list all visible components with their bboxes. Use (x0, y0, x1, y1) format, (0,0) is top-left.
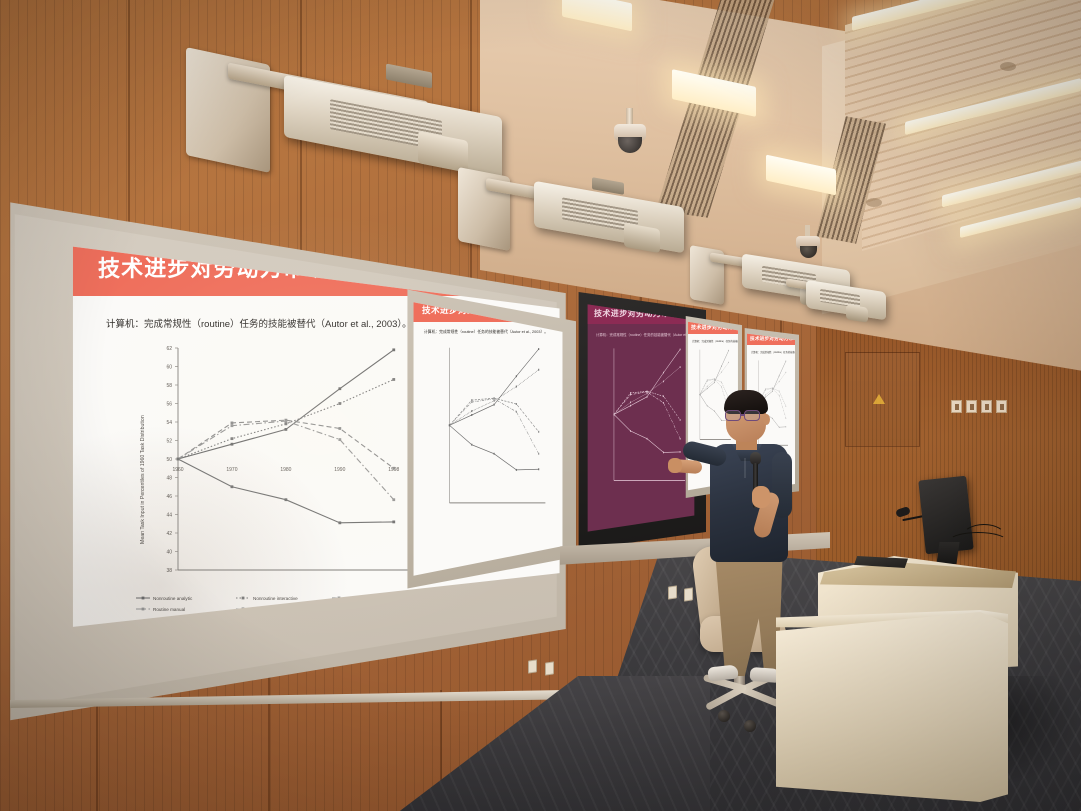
slide-subtitle: 计算机：完成常规性（routine）任务的技能被替代（Autor et al.,… (106, 316, 412, 330)
presenter-right-hand (752, 486, 770, 508)
task-input-chart-mini (428, 338, 552, 528)
chart-marker (663, 452, 664, 454)
task-input-chart: Mean Task Input in Percentiles of 1960 T… (126, 334, 426, 606)
chart-line-routine-cognitive (614, 391, 680, 420)
chart-marker (494, 453, 495, 455)
dome-security-camera (612, 108, 648, 156)
chart-marker (647, 393, 648, 395)
light-switch[interactable] (996, 400, 1007, 413)
chart-ylabel: Mean Task Input in Percentiles of 1960 T… (140, 415, 146, 544)
chart-series (449, 348, 539, 471)
chart-marker (663, 372, 664, 374)
chart-marker (680, 366, 681, 368)
chart-marker (471, 410, 472, 412)
chair-caster (744, 720, 756, 732)
chart-marker (338, 438, 341, 441)
chart-marker (231, 485, 234, 488)
chart-legend-label: Nonroutine analytic (153, 596, 193, 601)
svg-text:1960: 1960 (172, 467, 183, 473)
presenter-shoe (707, 664, 738, 681)
chart-marker (494, 400, 495, 402)
lectern-body[interactable] (776, 612, 1008, 802)
chart-line-nonroutine-analytic (614, 349, 680, 414)
chart-y-ticks: 38404244464850525456586062 (166, 346, 178, 574)
chart-marker (647, 396, 648, 398)
wall-outlet (545, 661, 554, 675)
chart-line-nonroutine-manual (449, 425, 538, 470)
chart-marker (630, 392, 631, 394)
svg-text:58: 58 (166, 383, 172, 389)
presenter-placket (744, 458, 746, 478)
chart-marker (516, 375, 517, 377)
svg-text:1990: 1990 (334, 467, 345, 473)
chart-marker (647, 438, 648, 440)
svg-text:1970: 1970 (226, 467, 237, 473)
chart-marker (663, 395, 664, 397)
chart-marker (392, 521, 395, 524)
chart-marker (630, 405, 631, 407)
cable (948, 532, 1008, 552)
chart-marker (284, 422, 287, 425)
ceiling-speaker (1000, 62, 1016, 71)
light-switch[interactable] (981, 400, 992, 413)
chart-line-nonroutine-analytic (178, 350, 394, 459)
chart-series (614, 349, 681, 454)
projection-screen-2: 技术进步对劳动力市场的冲击 计算机：完成常规性（routine）任务的技能被替代… (412, 298, 564, 580)
light-switch[interactable] (966, 400, 977, 413)
chart-marker (538, 468, 539, 470)
svg-text:54: 54 (166, 420, 172, 426)
chart-marker (538, 453, 539, 455)
glasses-icon (725, 410, 767, 421)
chart-marker (231, 422, 234, 425)
chart-marker (231, 424, 234, 427)
chart-marker (471, 414, 472, 416)
svg-text:44: 44 (166, 512, 172, 518)
presenter-legs (714, 556, 784, 676)
chart-marker (494, 398, 495, 400)
chart-marker (630, 430, 631, 432)
chart-line-routine-manual (449, 399, 538, 454)
chart-marker (449, 424, 450, 426)
chart-line-nonroutine-analytic (449, 349, 538, 425)
chart-marker (538, 431, 539, 433)
svg-text:38: 38 (166, 568, 172, 574)
chart-marker (338, 427, 341, 430)
svg-text:52: 52 (166, 438, 172, 444)
svg-text:40: 40 (166, 549, 172, 555)
chart-marker (516, 403, 517, 405)
chart-legend-label: Nonroutine interactive (253, 596, 298, 601)
svg-text:50: 50 (166, 457, 172, 463)
ceiling-sprinkler (866, 198, 882, 207)
chart-marker (392, 348, 395, 351)
chart-marker (284, 428, 287, 431)
svg-text:62: 62 (166, 346, 172, 352)
chart-marker (392, 467, 395, 470)
chart-marker (231, 443, 234, 446)
chart-series (177, 348, 396, 524)
chart-marker (516, 411, 517, 413)
chart-marker (516, 386, 517, 388)
chart-marker (338, 387, 341, 390)
chart-svg: Mean Task Input in Percentiles of 1960 T… (126, 334, 426, 606)
chart-marker (538, 369, 539, 371)
svg-text:48: 48 (166, 475, 172, 481)
svg-text:46: 46 (166, 494, 172, 500)
chart-marker (663, 381, 664, 383)
light-switch-bank[interactable] (951, 400, 1007, 413)
light-switch[interactable] (951, 400, 962, 413)
chart-marker (284, 498, 287, 501)
chart-line-routine-cognitive (178, 420, 394, 468)
chart-marker (392, 498, 395, 501)
wall-outlet (528, 659, 537, 673)
chart-axes (178, 348, 410, 570)
chart-marker (647, 391, 648, 393)
chart-marker (471, 444, 472, 446)
chart-marker (392, 378, 395, 381)
chart-marker (494, 404, 495, 406)
svg-text:42: 42 (166, 531, 172, 537)
svg-text:1980: 1980 (280, 467, 291, 473)
presenter-left-hand (668, 458, 682, 473)
chart-line-nonroutine-manual (614, 414, 680, 452)
chart-marker (471, 399, 472, 401)
chart-marker (630, 401, 631, 403)
slide-subtitle: 计算机：完成常规性（routine）任务的技能被替代（Autor et al.,… (424, 330, 548, 335)
chart-marker (231, 437, 234, 440)
chart-marker (338, 521, 341, 524)
chart-line-routine-manual (178, 421, 394, 500)
warning-triangle-icon (873, 394, 885, 404)
chart-marker (680, 349, 681, 351)
chart-line-routine-manual (614, 392, 680, 439)
lecture-hall-photo: 技术进步对劳动力市场的冲击 计算机：完成常规性（routine）任务的技能被替代… (0, 0, 1081, 811)
chart-marker (338, 402, 341, 405)
wall-seam (268, 660, 270, 811)
svg-text:56: 56 (166, 401, 172, 407)
chart-legend-label: Routine manual (153, 607, 185, 612)
chart-marker (177, 458, 180, 461)
chart-marker (471, 401, 472, 403)
chart-line-routine-cognitive (449, 398, 538, 432)
svg-text:60: 60 (166, 364, 172, 370)
chair-caster (718, 710, 730, 722)
chart-marker (516, 469, 517, 471)
chart-marker (663, 402, 664, 404)
chart-marker (538, 348, 539, 350)
chart-marker (614, 414, 615, 416)
chart-marker (630, 394, 631, 396)
dome-security-camera (795, 225, 821, 261)
chart-marker (284, 420, 287, 423)
presenter-shoe (750, 667, 781, 683)
